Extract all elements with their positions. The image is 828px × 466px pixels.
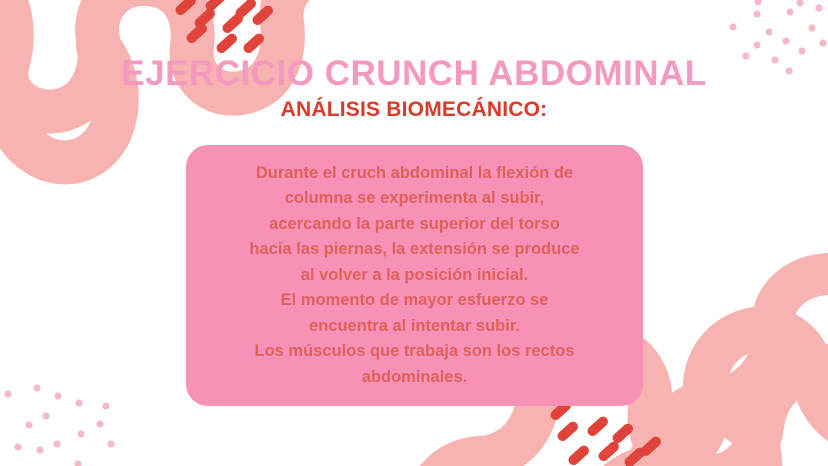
page-subtitle: ANÁLISIS BIOMECÁNICO:: [0, 99, 828, 121]
dash-cluster-bottom-left-icon: [548, 399, 663, 466]
page-title: EJERCICIO CRUNCH ABDOMINAL: [0, 56, 828, 93]
dash-cluster-top-left-icon: [173, 0, 275, 55]
dot-cluster-bottom-left-icon: [4, 384, 114, 466]
slide-canvas: EJERCICIO CRUNCH ABDOMINAL ANÁLISIS BIOM…: [0, 0, 828, 466]
analysis-text-card: Durante el cruch abdominal la flexión de…: [186, 145, 643, 406]
title-block: EJERCICIO CRUNCH ABDOMINAL ANÁLISIS BIOM…: [0, 56, 828, 121]
body-text-line: Durante el cruch abdominal la flexión de: [256, 161, 573, 187]
body-text-line: al volver a la posición inicial.: [301, 263, 528, 289]
body-text-line: acercando la parte superior del torso: [269, 212, 560, 238]
body-text-line: columna se experimenta al subir,: [285, 186, 545, 212]
body-text-line: hacia las piernas, la extensión se produ…: [249, 237, 579, 263]
wave-ribbon-bottom-right-upper-icon: [652, 274, 828, 466]
body-text-line: abdominales.: [362, 365, 467, 391]
body-text-line: El momento de mayor esfuerzo se: [281, 288, 549, 314]
body-text-line: encuentra al intentar subir.: [309, 314, 520, 340]
body-text-line: Los músculos que trabaja son los rectos: [254, 339, 574, 365]
wave-ribbon-bottom-right-icon: [645, 413, 812, 466]
